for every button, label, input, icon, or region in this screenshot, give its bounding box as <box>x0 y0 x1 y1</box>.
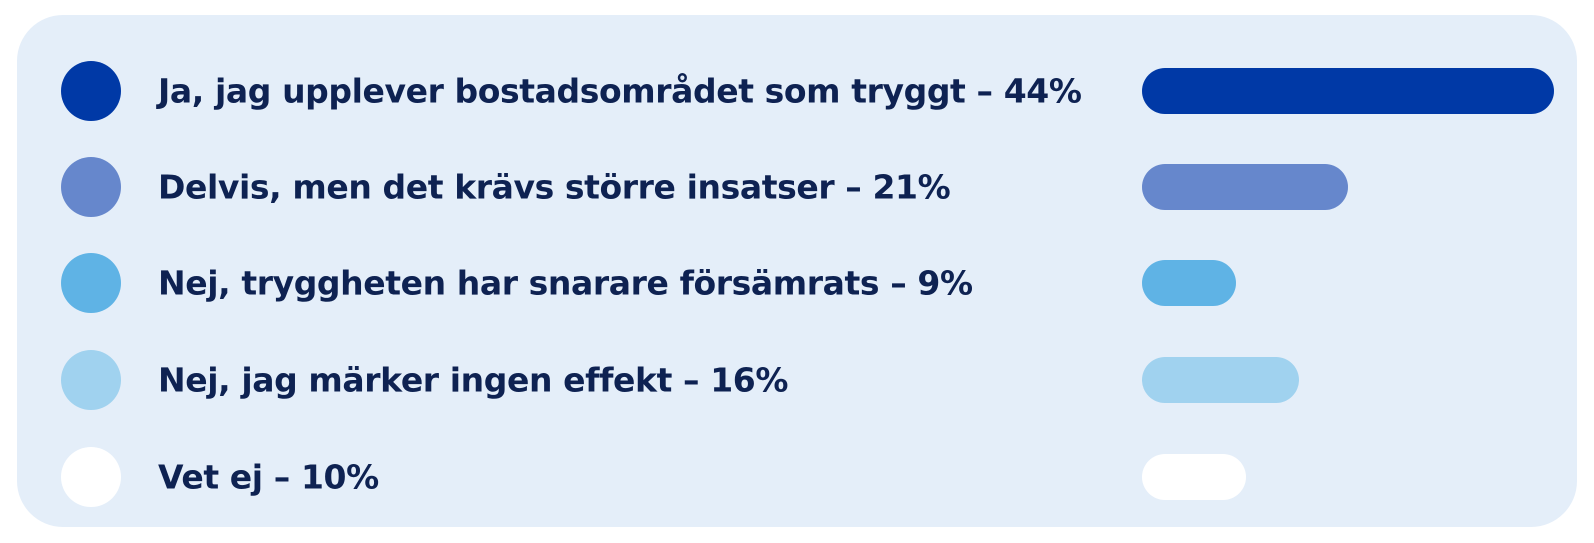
poll-bar-fill <box>1142 454 1246 500</box>
poll-option-label: Ja, jag upplever bostadsområdet som tryg… <box>158 75 1082 108</box>
poll-bar-track <box>1142 68 1554 114</box>
poll-bar-fill <box>1142 260 1236 306</box>
poll-option-row[interactable]: Delvis, men det krävs större insatser – … <box>17 139 1577 235</box>
poll-option-label: Nej, tryggheten har snarare försämrats –… <box>158 267 973 300</box>
poll-bar-track <box>1142 260 1554 306</box>
poll-bar-fill <box>1142 68 1554 114</box>
poll-bar-track <box>1142 454 1554 500</box>
color-swatch-dot <box>61 157 121 217</box>
poll-bar-fill <box>1142 357 1299 403</box>
poll-results-card: Ja, jag upplever bostadsområdet som tryg… <box>17 15 1577 527</box>
poll-option-label: Nej, jag märker ingen effekt – 16% <box>158 364 788 397</box>
poll-bar-track <box>1142 164 1554 210</box>
poll-option-label: Delvis, men det krävs större insatser – … <box>158 171 950 204</box>
poll-option-label: Vet ej – 10% <box>158 461 379 494</box>
color-swatch-dot <box>61 350 121 410</box>
color-swatch-dot <box>61 61 121 121</box>
poll-bar-track <box>1142 357 1554 403</box>
poll-option-row[interactable]: Nej, jag märker ingen effekt – 16% <box>17 332 1577 428</box>
poll-option-row[interactable]: Vet ej – 10% <box>17 429 1577 525</box>
poll-bar-fill <box>1142 164 1348 210</box>
poll-option-row[interactable]: Nej, tryggheten har snarare försämrats –… <box>17 235 1577 331</box>
color-swatch-dot <box>61 253 121 313</box>
color-swatch-dot <box>61 447 121 507</box>
poll-option-row[interactable]: Ja, jag upplever bostadsområdet som tryg… <box>17 43 1577 139</box>
